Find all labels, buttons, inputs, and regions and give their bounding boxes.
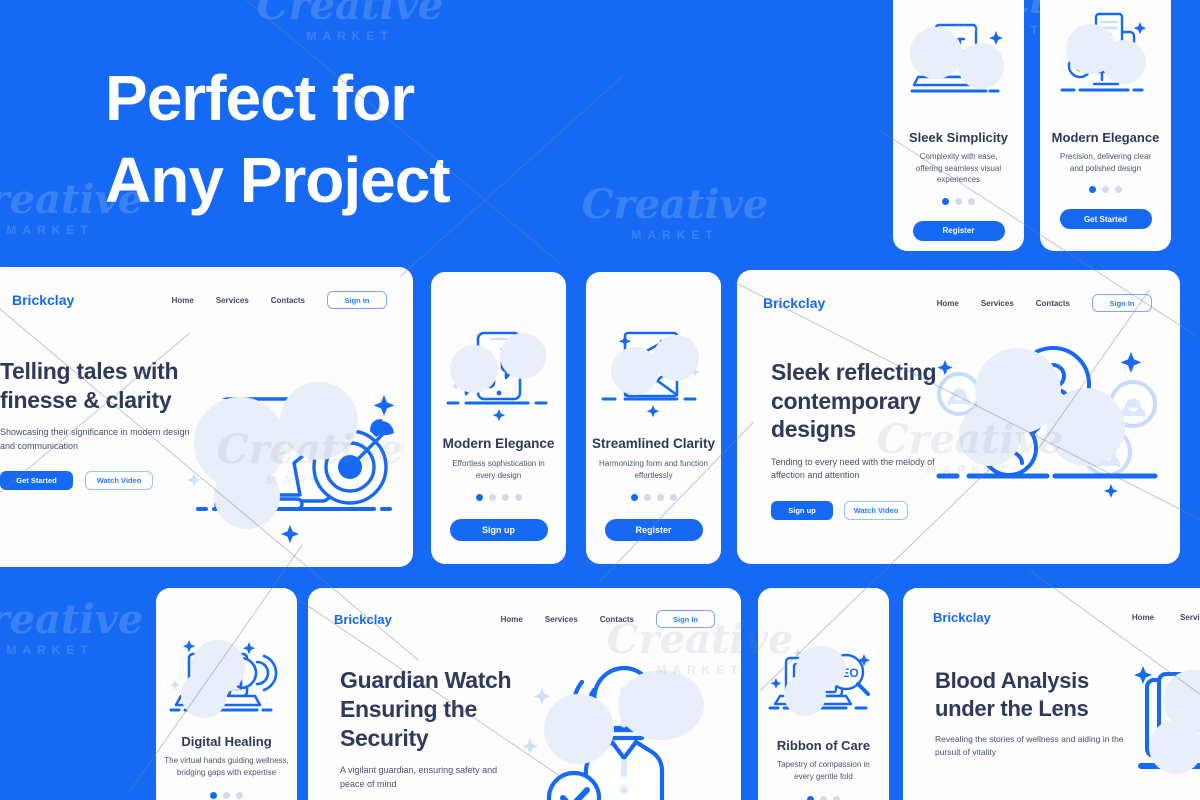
- sign-in-button[interactable]: Sign In: [1092, 294, 1152, 312]
- dot-1[interactable]: [807, 796, 814, 800]
- laptop-megaphone-icon: [156, 588, 297, 724]
- phone-chat-hearts-icon: [431, 272, 566, 422]
- mobile-card-modern-elegance-top[interactable]: Modern Elegance Precision, delivering cl…: [1040, 0, 1171, 251]
- watch-video-button[interactable]: Watch Video: [85, 471, 153, 490]
- site-logo[interactable]: Brickclay: [933, 610, 991, 625]
- dot-3[interactable]: [502, 494, 509, 501]
- nav-services[interactable]: Services: [545, 615, 578, 624]
- pagination-dots[interactable]: [631, 494, 677, 501]
- pagination-dots[interactable]: [942, 198, 975, 205]
- dot-3[interactable]: [236, 792, 243, 799]
- site-subtitle: Tending to every need with the melody of…: [771, 456, 956, 483]
- nav-home[interactable]: Home: [937, 299, 959, 308]
- site-heading: Telling tales with finesse & clarity: [0, 357, 203, 414]
- lightbulb-person-check-icon: [508, 650, 738, 800]
- card-subtitle: Effortless sophistication in every desig…: [444, 458, 554, 481]
- site-heading: Blood Analysis under the Lens: [935, 667, 1118, 722]
- website-card-blood-analysis[interactable]: Brickclay Home Services Blood Analysis u…: [903, 588, 1200, 800]
- dot-2[interactable]: [489, 494, 496, 501]
- watermark: Creative MARKET: [240, 0, 460, 42]
- card-subtitle: Precision, delivering clear and polished…: [1056, 151, 1156, 174]
- card-subtitle: Tapestry of compassion in every gentle f…: [769, 759, 879, 782]
- card-title: Streamlined Clarity: [592, 436, 715, 451]
- hero-line-2: Any Project: [105, 140, 865, 222]
- nav-services[interactable]: Services: [216, 296, 249, 305]
- card-title: Digital Healing: [181, 734, 271, 749]
- envelope-megaphone-icon: [586, 272, 721, 422]
- card-subtitle: Complexity with ease, offering seamless …: [906, 151, 1011, 186]
- dot-2[interactable]: [223, 792, 230, 799]
- website-card-telling-tales[interactable]: Brickclay Home Services Contacts Sign In…: [0, 267, 413, 567]
- document-screen-icon: [1139, 666, 1200, 796]
- site-heading: Guardian Watch Ensuring the Security: [340, 666, 528, 752]
- card-title: Modern Elegance: [443, 436, 555, 451]
- mobile-card-streamlined-clarity[interactable]: Streamlined Clarity Harmonizing form and…: [586, 272, 721, 564]
- card-title: Modern Elegance: [1052, 130, 1160, 145]
- dot-1[interactable]: [942, 198, 949, 205]
- chess-rook-target-document-icon: [184, 377, 399, 552]
- get-started-button[interactable]: Get Started: [1060, 209, 1152, 229]
- dot-3[interactable]: [657, 494, 664, 501]
- site-logo[interactable]: Brickclay: [763, 295, 825, 311]
- card-subtitle: Harmonizing form and function effortless…: [599, 458, 709, 481]
- dot-1[interactable]: [1089, 186, 1096, 193]
- nav-home[interactable]: Home: [1132, 613, 1154, 622]
- laptop-seo-magnifier-icon: SEO: [758, 588, 889, 728]
- watermark: Creative MARKET: [0, 600, 160, 656]
- site-navbar: Brickclay Home Services Contacts Sign In: [308, 588, 741, 628]
- sign-in-button[interactable]: Sign In: [327, 291, 387, 309]
- site-logo[interactable]: Brickclay: [334, 612, 392, 627]
- pagination-dots[interactable]: [807, 796, 840, 800]
- hero-line-1: Perfect for: [105, 58, 865, 140]
- watch-video-button[interactable]: Watch Video: [844, 501, 908, 520]
- dot-1[interactable]: [210, 792, 217, 799]
- mobile-card-digital-healing[interactable]: Digital Healing The virtual hands guidin…: [156, 588, 297, 800]
- dot-4[interactable]: [670, 494, 677, 501]
- card-title: Ribbon of Care: [777, 738, 870, 753]
- register-button[interactable]: Register: [605, 519, 703, 541]
- register-button[interactable]: Register: [913, 221, 1005, 241]
- mobile-card-ribbon-of-care[interactable]: SEO Ribbon of Care Tapestry of compassio…: [758, 588, 889, 800]
- site-subtitle: Revealing the stories of wellness and ai…: [935, 733, 1140, 759]
- nav-contacts[interactable]: Contacts: [600, 615, 634, 624]
- dot-2[interactable]: [820, 796, 827, 800]
- network-people-nodes-icon: [937, 342, 1167, 492]
- nav-home[interactable]: Home: [501, 615, 523, 624]
- site-logo[interactable]: Brickclay: [12, 292, 74, 308]
- dot-1[interactable]: [631, 494, 638, 501]
- website-card-sleek-reflecting[interactable]: Brickclay Home Services Contacts Sign In…: [737, 270, 1180, 564]
- dot-2[interactable]: [644, 494, 651, 501]
- dot-2[interactable]: [955, 198, 962, 205]
- laptop-key-document-icon: [893, 0, 1024, 120]
- site-navbar: Brickclay Home Services Contacts Sign In: [0, 267, 413, 309]
- dot-1[interactable]: [476, 494, 483, 501]
- card-title: Sleek Simplicity: [909, 130, 1008, 145]
- nav-home[interactable]: Home: [172, 296, 194, 305]
- monitor-download-check-icon: [1040, 0, 1171, 120]
- pagination-dots[interactable]: [1089, 186, 1122, 193]
- hero-heading: Perfect for Any Project: [105, 58, 865, 222]
- site-subtitle: A vigilant guardian, ensuring safety and…: [340, 764, 520, 791]
- dot-3[interactable]: [1115, 186, 1122, 193]
- mobile-card-modern-elegance-mid[interactable]: Modern Elegance Effortless sophisticatio…: [431, 272, 566, 564]
- nav-contacts[interactable]: Contacts: [1036, 299, 1070, 308]
- site-heading: Sleek reflecting contemporary designs: [771, 358, 957, 444]
- nav-services[interactable]: Services: [981, 299, 1014, 308]
- pagination-dots[interactable]: [210, 792, 243, 799]
- sign-in-button[interactable]: Sign In: [656, 610, 715, 628]
- dot-3[interactable]: [833, 796, 840, 800]
- site-navbar: Brickclay Home Services Contacts Sign In: [737, 270, 1180, 312]
- mobile-card-sleek-simplicity[interactable]: Sleek Simplicity Complexity with ease, o…: [893, 0, 1024, 251]
- sign-up-button[interactable]: Sign up: [771, 501, 833, 520]
- site-subtitle: Showcasing their significance in modern …: [0, 426, 200, 453]
- sign-up-button[interactable]: Sign up: [450, 519, 548, 541]
- nav-services[interactable]: Services: [1180, 613, 1200, 622]
- get-started-button[interactable]: Get Started: [0, 471, 73, 490]
- dot-4[interactable]: [515, 494, 522, 501]
- dot-2[interactable]: [1102, 186, 1109, 193]
- nav-contacts[interactable]: Contacts: [271, 296, 305, 305]
- dot-3[interactable]: [968, 198, 975, 205]
- pagination-dots[interactable]: [476, 494, 522, 501]
- website-card-guardian-watch[interactable]: Brickclay Home Services Contacts Sign In…: [308, 588, 741, 800]
- site-navbar: Brickclay Home Services: [903, 588, 1200, 625]
- card-subtitle: The virtual hands guiding wellness, brid…: [164, 755, 289, 778]
